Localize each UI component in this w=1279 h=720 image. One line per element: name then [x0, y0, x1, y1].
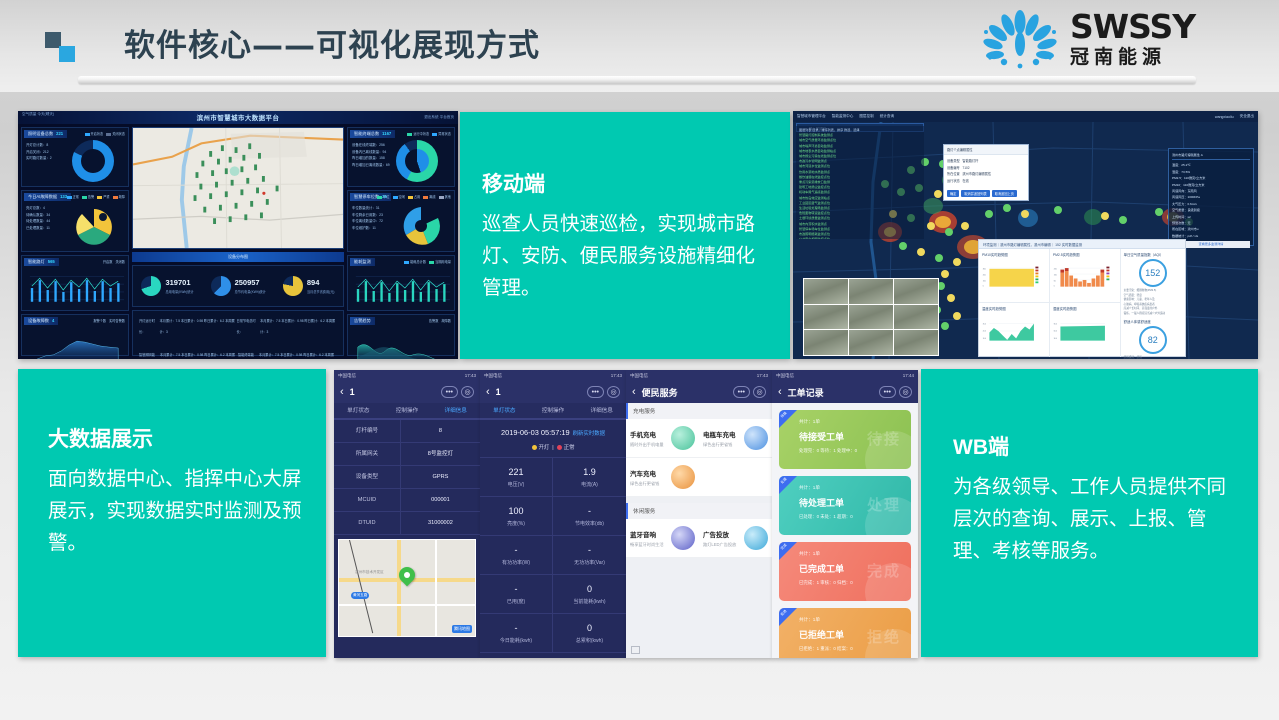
refresh-link[interactable]: 刷新实时数据: [573, 431, 605, 437]
card-ghost-text: 待接: [867, 428, 901, 449]
gis-monitoring-screenshot: 智慧城市管理平台 智能监测中心 图层控制 统计查询 wangxiaoliu 安全…: [793, 111, 1258, 359]
chart-pm25: 250150 500: [1053, 259, 1117, 295]
crowd-description: 舒适级别：舒适 感受描述：人体感觉比较舒适 建议事项：适合户外活动出行: [1124, 356, 1182, 359]
tab-light-status[interactable]: 单灯状态: [334, 403, 383, 418]
phone-navbar: ‹ 便民服务 ••• ◎: [626, 381, 772, 403]
chart-title-humidity: 湿度实时趋势图: [1053, 306, 1117, 311]
card-count: 共计：1单: [799, 485, 820, 491]
table-row: 设备类型 GPRS: [334, 466, 480, 489]
dash-card-smart-lamp: 智能路灯565 开启数 关闭数: [21, 255, 129, 311]
dashboard-actions[interactable]: 退出系统 平台首页: [424, 115, 454, 120]
card-caption: 智能路灯565: [24, 258, 59, 266]
metric-cell: 221电压(V): [480, 458, 553, 497]
realtime-metrics-grid: 221电压(V) 1.9电流(A) 100亮度(%) -节电效率(db) -有功…: [480, 458, 626, 653]
card-legend: 运行中状态 异常状态: [407, 131, 451, 136]
camera-tile[interactable]: [849, 330, 893, 355]
light-detail-table: 灯杆编号 8 所属网关 8号监控灯 设备类型 GPRS MCUID 000001…: [334, 419, 480, 535]
table-row: DTUID 31000002: [334, 512, 480, 535]
svg-text:10.0: 10.0: [983, 338, 986, 340]
area-chart-alarm: [348, 329, 454, 359]
table-row: MCUID 000001: [334, 489, 480, 512]
clock-label: 17:43: [611, 373, 622, 378]
aqi-title: 单日空气质量指数（AQI）: [1124, 252, 1182, 257]
card-legend: 正常 告警 严重 故障: [67, 194, 126, 199]
dash-card-fault-today: 今日AI故障数据133 正常 告警 严重 故障 亮灯总数：4 待确认数量：34 …: [21, 190, 129, 252]
metric-cell: -有功功率(W): [480, 536, 553, 575]
svg-text:300: 300: [983, 269, 986, 271]
svg-text:90.0: 90.0: [1054, 323, 1057, 325]
card-caption: 照明设备总数221: [24, 130, 67, 138]
back-icon[interactable]: ‹: [340, 386, 344, 398]
donut-chart-terminals: [396, 140, 438, 182]
phone-location-map[interactable]: 滨州市技术开发区 黄河五路 腾讯地图: [338, 539, 476, 637]
dash-card-terminal-total: 智能终端总数1167 运行中状态 异常状态 设备在线终端数：256 设备内已离线…: [347, 127, 455, 187]
dashboard-city-map[interactable]: [132, 127, 344, 249]
svg-text:0: 0: [983, 286, 984, 288]
pie-chart-parking: [398, 205, 444, 247]
card-name: 已拒绝工单: [799, 628, 844, 641]
svg-text:60.0: 60.0: [1054, 331, 1057, 333]
dash-card-energy: 能耗监测 能耗总计数 当期用电量: [347, 255, 455, 311]
camera-tile[interactable]: [804, 330, 848, 355]
close-icon[interactable]: ◎: [607, 386, 620, 398]
card-caption: 能耗监测: [350, 258, 375, 266]
card-name: 待接受工单: [799, 430, 844, 443]
service-section-leisure: 休闲服务 蓝牙音响 畅享蓝牙时尚生活 广告投放 路灯LED广告投放: [626, 503, 772, 558]
chart-title-pm10: PM10实时趋势图: [982, 252, 1046, 257]
chart-pm10: 3002001000: [982, 259, 1046, 295]
kpi-item: 319701 总用电量(KWh)统计: [141, 276, 193, 296]
panel-bigdata-heading: 大数据展示: [48, 423, 310, 453]
area-chart-device-fault: [22, 329, 128, 359]
clock-label: 17:44: [903, 373, 914, 378]
car-charge-icon: [671, 465, 695, 489]
menu-layer-control[interactable]: 图层控制: [859, 114, 873, 119]
crowd-title: 舒适人体感舒适度: [1124, 319, 1182, 324]
popup-confirm-button[interactable]: 确定: [947, 190, 959, 197]
more-icon[interactable]: •••: [441, 386, 458, 398]
popup-cancel-back-button[interactable]: 取消返回上页: [992, 190, 1017, 197]
service-item[interactable]: 电瓶车充电 绿色出行更省钱: [699, 419, 772, 458]
row-value: 000001: [400, 489, 480, 511]
close-icon[interactable]: ◎: [899, 386, 912, 398]
card-legend: 报警个数 实时告警数: [93, 318, 125, 323]
crowd-value: 82: [1139, 326, 1167, 354]
bar-chart-energy: [348, 270, 454, 310]
phone-charge-icon: [671, 426, 695, 450]
chart-column-mid: PM2.5实时趋势图: [1050, 249, 1121, 359]
phone-tabbar[interactable]: 单灯状态 控制操作 详细信息: [480, 403, 626, 419]
card-name: 已完成工单: [799, 562, 844, 575]
carrier-label: 中国电信: [338, 373, 356, 379]
svg-text:35.0: 35.0: [983, 323, 986, 325]
panel-web-client: WB端 为各级领导、工作人员提供不同层次的查询、展示、上报、管理、考核等服务。: [921, 369, 1258, 657]
logo-text-en: SWSSY: [1070, 10, 1195, 44]
metric-cell: -无功功率(Var): [553, 536, 626, 575]
phone-screenshot-realtime-data: 中国电信 17:43 ‹ 1 ••• ◎ 单灯状态 控制操作 详细信息 2019…: [480, 370, 626, 658]
dash-card-parking: 智慧停车位数36 车位 空闲 占用 离线 其他 车位数量统计：31 车位剩余已用…: [347, 190, 455, 252]
panel-mobile-heading: 移动端: [482, 168, 774, 198]
card-meta: 已拒绝：1 重派：0 结案：0: [799, 646, 853, 652]
work-order-card-pending-handle[interactable]: 处理 处理 共计：1单 待处理工单 已处理：0 未处：1 超期：0: [779, 476, 911, 535]
clock-label: 17:43: [465, 373, 476, 378]
chart-humidity: 90.060.030.0: [1053, 313, 1117, 349]
card-legend: 开启数 关闭数: [103, 259, 125, 264]
panel-wb-body: 为各级领导、工作人员提供不同层次的查询、展示、上报、管理、考核等服务。: [953, 471, 1243, 567]
company-logo: SWSSY 冠南能源: [974, 8, 1224, 74]
row-key: DTUID: [334, 512, 400, 534]
map-feature-popup[interactable]: 路灯个点编辑属性 设备类型 智能路灯杆 设备编号 7102 所在位置 滨州市路灯…: [943, 144, 1029, 201]
card-legend: 能耗总计数 当期用电量: [404, 259, 451, 264]
card-meta: 处理完：0 等待：1 处理中：0: [799, 448, 857, 454]
phone-nav-title: 便民服务: [642, 386, 733, 399]
popup-body: 设备类型 智能路灯杆 设备编号 7102 所在位置 滨州市路灯编辑属性 运行状态…: [944, 155, 1028, 187]
svg-text:20.0: 20.0: [983, 331, 986, 333]
menu-monitor-center[interactable]: 智能监测中心: [832, 114, 854, 119]
realtime-header: 2019-06-03 05:57:19刷新实时数据 开灯 | 正常: [480, 419, 626, 458]
detail-panel-title: 滨州市路灯编辑属性 A: [1172, 152, 1250, 160]
card-legend: 车位 空闲 占用 离线 其他: [377, 194, 451, 199]
card-meta: 已处理：0 未处：1 超期：0: [799, 514, 853, 520]
page-title: 软件核心——可视化展现方式: [124, 20, 540, 65]
svg-text:150: 150: [1054, 275, 1057, 277]
row-key: 灯杆编号: [334, 420, 400, 442]
panel-bigdata-display: 大数据展示 面向数据中心、指挥中心大屏展示，实现数据实时监测及预警。: [18, 369, 326, 657]
clock-label: 17:43: [757, 373, 768, 378]
camera-tile[interactable]: [804, 279, 848, 304]
slide-header: 软件核心——可视化展现方式: [0, 0, 1279, 92]
back-icon[interactable]: ‹: [486, 386, 490, 398]
card-caption: 今日AI故障数据133: [24, 193, 71, 201]
more-icon[interactable]: •••: [587, 386, 604, 398]
card-metrics: 设备在线终端数：256 设备内已离线数量：94 昨日增加的数量：158 昨日增加…: [352, 142, 390, 168]
dashboard-weather-meta: 空气质量 今天(晴天): [22, 112, 54, 117]
service-item[interactable]: 广告投放 路灯LED广告投放: [699, 519, 772, 558]
back-icon[interactable]: ‹: [778, 386, 782, 398]
card-legend: 告警数 故障数: [429, 318, 451, 323]
phone-nav-title: 1: [496, 387, 587, 397]
chart-column-right: 单日空气质量指数（AQI） 152 主要污染：细颗粒物(PM2.5) 空气质量：…: [1121, 249, 1185, 359]
phone-screenshot-work-orders: 中国电信 17:44 ‹ 工单记录 ••• ◎ 待接 待接 共计：1单 待接受工…: [772, 370, 918, 658]
aqi-value: 152: [1139, 259, 1167, 287]
chart-column-left: PM10实时趋势图 3002001000: [979, 249, 1050, 359]
metric-cell: -节电效率(db): [553, 497, 626, 536]
user-account[interactable]: wangxiaoliu: [1215, 115, 1234, 119]
svg-text:50: 50: [1054, 280, 1056, 282]
dash-card-device-fault: 设备故障数4 报警个数 实时告警数: [21, 314, 129, 356]
layer-tree-list[interactable]: 图层列表 目录，排序列表，排序 筛选，选择 智慧路灯控制系统监测点 城市空气质量…: [796, 126, 924, 239]
metric-cell: 0总累积(kwh): [553, 614, 626, 653]
dashboard-footer-stats: 开灯运行时长： 本月累计：7.5 本日累计：0.98 昨日累计：6.2 本周累计…: [132, 310, 344, 356]
title-decoration-squares: [45, 32, 77, 62]
popup-buttons[interactable]: 确定 取消并返回列表 取消返回上页: [944, 187, 1028, 200]
carrier-label: 中国电信: [484, 373, 502, 379]
advertising-icon: [744, 526, 768, 550]
home-indicator-icon: [631, 646, 640, 654]
popup-title: 路灯个点编辑属性: [944, 145, 1028, 155]
phone-statusbar: 中国电信 17:44: [772, 370, 918, 381]
phone-tabbar[interactable]: 单灯状态 控制操作 详细信息: [334, 403, 480, 419]
miniprogram-capsule[interactable]: ••• ◎: [733, 386, 766, 398]
pie-chart-fault: [72, 207, 116, 247]
chart-temperature: 35.020.010.0: [982, 313, 1046, 349]
svg-text:100: 100: [983, 280, 986, 282]
table-row: 灯杆编号 8: [334, 420, 480, 443]
svg-text:0: 0: [1054, 286, 1055, 288]
realtime-flags: 开灯 | 正常: [480, 443, 626, 451]
miniprogram-capsule[interactable]: ••• ◎: [879, 386, 912, 398]
miniprogram-capsule[interactable]: ••• ◎: [587, 386, 620, 398]
phone-nav-title: 1: [350, 387, 441, 397]
map-label-b: 黄河五路: [351, 592, 369, 599]
back-icon[interactable]: ‹: [632, 386, 636, 398]
tab-detail-info[interactable]: 详细信息: [577, 403, 626, 418]
dash-card-lights-total: 照明设备总数221 开启状态 关闭状态 开灯总计数：8 开启关闭：212 实时路…: [21, 127, 129, 187]
dashboard-center-column: 设备分布图 319701 总用电量(KWh)统计 250957 总节约电量(KW…: [132, 127, 344, 356]
kpi-item: 250957 总节约电量(KWh)统计: [211, 276, 266, 296]
metric-cell: -今日能耗(kwh): [480, 614, 553, 653]
service-item-empty: [699, 458, 772, 497]
metric-cell: 1.9电流(A): [553, 458, 626, 497]
card-metrics: 亮灯总数：4 待确认数量：34 待处理数量：44 已处理数量：11: [26, 205, 50, 231]
panel-mobile-client: 移动端 巡查人员快速巡检，实现城市路灯、安防、便民服务设施精细化管理。: [460, 112, 790, 359]
dash-card-alarm-trend: 告警趋势 告警数 故障数: [347, 314, 455, 356]
row-key: MCUID: [334, 489, 400, 511]
logo-text-cn: 冠南能源: [1070, 46, 1195, 70]
phone-navbar: ‹ 工单记录 ••• ◎: [772, 381, 918, 403]
more-icon[interactable]: •••: [733, 386, 750, 398]
carrier-label: 中国电信: [630, 373, 648, 379]
card-meta: 已完成：1 审核：0 归档：0: [799, 580, 853, 586]
dashboard-right-column: 智能终端总数1167 运行中状态 异常状态 设备在线终端数：256 设备内已离线…: [347, 127, 455, 356]
row-value: 8: [400, 420, 480, 442]
tab-control-ops[interactable]: 控制操作: [383, 403, 432, 418]
map-provider-badge: 腾讯地图: [452, 625, 472, 633]
phone-screenshot-public-services: 中国电信 17:43 ‹ 便民服务 ••• ◎ 充电服务 手机充电 随时外出手机…: [626, 370, 772, 658]
dashboard-titlebar: 空气质量 今天(晴天) 滨州市智慧城市大数据平台 退出系统 平台首页: [18, 111, 458, 124]
service-item[interactable]: 汽车充电 绿色出行更省钱: [626, 458, 699, 497]
dashboard-title: 滨州市智慧城市大数据平台: [197, 113, 280, 122]
tab-detail-info[interactable]: 详细信息: [431, 403, 480, 418]
gis-top-menu[interactable]: 智慧城市管理平台 智能监测中心 图层控制 统计查询 wangxiaoliu 安全…: [793, 111, 1258, 122]
miniprogram-capsule[interactable]: ••• ◎: [441, 386, 474, 398]
logout-button[interactable]: 安全退出: [1240, 114, 1254, 119]
card-metrics: 车位数量统计：31 车位剩余已用数：23 车位离线数量中：72 车位维护数：11: [352, 205, 383, 231]
phone-navbar: ‹ 1 ••• ◎: [334, 381, 480, 403]
card-metrics: 开灯总计数：8 开启关闭：212 实时路灯数量：2: [26, 142, 52, 162]
layer-tree-item[interactable]: 公共安全视频监控点位: [799, 237, 921, 239]
svg-text:250: 250: [1054, 269, 1057, 271]
menu-stat-query[interactable]: 统计查询: [880, 114, 894, 119]
card-ghost-text: 处理: [867, 494, 901, 515]
dashboard-kpi-row: 319701 总用电量(KWh)统计 250957 总节约电量(KWh)统计 8…: [132, 265, 344, 307]
row-value: 8号监控灯: [400, 443, 480, 465]
metric-cell: -已用(度): [480, 575, 553, 614]
work-order-card-completed[interactable]: 完成 完成 共计：1单 已完成工单 已完成：1 审核：0 归档：0: [779, 542, 911, 601]
row-key: 所属网关: [334, 443, 400, 465]
chart-panel-title: 环境监测｜滨州市路灯编辑属性，滨州市编辑｜ 152 实时数据监测: [979, 240, 1185, 249]
more-icon[interactable]: •••: [879, 386, 896, 398]
phone-statusbar: 中国电信 17:43: [626, 370, 772, 381]
card-count: 共计：1单: [799, 617, 820, 623]
camera-tile[interactable]: [849, 279, 893, 304]
dashboard-left-column: 照明设备总数221 开启状态 关闭状态 开灯总计数：8 开启关闭：212 实时路…: [21, 127, 129, 356]
kpi-item: 894 当月总节省费用(元): [283, 276, 335, 296]
section-title: 充电服务: [626, 403, 772, 419]
card-ghost-text: 拒绝: [867, 626, 901, 647]
bluetooth-speaker-icon: [671, 526, 695, 550]
section-title: 休闲服务: [626, 503, 772, 519]
phone-navbar: ‹ 1 ••• ◎: [480, 381, 626, 403]
card-caption: 设备故障数4: [24, 317, 58, 325]
feature-detail-panel[interactable]: 滨州市路灯编辑属性 A 温度：25.2℃ 湿度：73.5% PM2.5：110微…: [1168, 148, 1254, 246]
chart-title-temp: 温度实时趋势图: [982, 306, 1046, 311]
phone-nav-title: 工单记录: [788, 386, 879, 399]
panel-bigdata-body: 面向数据中心、指挥中心大屏展示，实现数据实时监测及预警。: [48, 463, 310, 559]
gis-map-canvas[interactable]: 输入关键字 图层列表 目录，排序列表，排序 筛选，选择 智慧路灯控制系统监测点 …: [793, 122, 1258, 359]
row-key: 设备类型: [334, 466, 400, 488]
panel-mobile-body: 巡查人员快速巡检，实现城市路灯、安防、便民服务设施精细化管理。: [482, 208, 774, 304]
aqi-description: 主要污染：细颗粒物(PM2.5) 空气质量：轻度 健康影响：儿童、老年人及 心脏…: [1124, 289, 1182, 317]
row-value: GPRS: [400, 466, 480, 488]
carrier-label: 中国电信: [776, 373, 794, 379]
realtime-timestamp: 2019-06-03 05:57:19刷新实时数据: [480, 428, 626, 437]
header-divider: [78, 76, 1196, 84]
metric-cell: 0当前能耗(kwh): [553, 575, 626, 614]
bigdata-dashboard-screenshot: 空气质量 今天(晴天) 滨州市智慧城市大数据平台 退出系统 平台首页 照明设备总…: [18, 111, 458, 359]
card-caption: 智能终端总数1167: [350, 130, 395, 138]
work-order-card-pending-accept[interactable]: 待接 待接 共计：1单 待接受工单 处理完：0 等待：1 处理中：0: [779, 410, 911, 469]
card-caption: 告警趋势: [350, 317, 375, 325]
tab-control-ops[interactable]: 控制操作: [529, 403, 578, 418]
card-count: 共计：1单: [799, 551, 820, 557]
phone-screenshot-light-detail: 中国电信 17:43 ‹ 1 ••• ◎ 单灯状态 控制操作 详细信息 灯杆编号…: [334, 370, 480, 658]
chart-title-pm25: PM2.5实时趋势图: [1053, 252, 1117, 257]
camera-grid[interactable]: [803, 278, 939, 356]
card-ghost-text: 完成: [867, 560, 901, 581]
popup-cancel-list-button[interactable]: 取消并返回列表: [961, 190, 989, 197]
card-legend: 开启状态 关闭状态: [85, 131, 126, 136]
tab-light-status[interactable]: 单灯状态: [480, 403, 529, 418]
service-item[interactable]: 蓝牙音响 畅享蓝牙时尚生活: [626, 519, 699, 558]
camera-tile[interactable]: [804, 305, 848, 330]
menu-platform[interactable]: 智慧城市管理平台: [797, 114, 826, 119]
service-item[interactable]: 手机充电 随时外出手机电量: [626, 419, 699, 458]
ebike-charge-icon: [744, 426, 768, 450]
donut-chart-lights: [72, 140, 114, 182]
svg-text:30.0: 30.0: [1054, 338, 1057, 340]
row-value: 31000002: [400, 512, 480, 534]
dashboard-map-bar: 设备分布图: [132, 252, 344, 262]
card-name: 待处理工单: [799, 496, 844, 509]
panel-wb-heading: WB端: [953, 431, 1243, 461]
camera-tile[interactable]: [894, 279, 938, 304]
logo-petal-icon: [974, 10, 1066, 72]
bar-chart-smart-lamp: [22, 270, 128, 310]
camera-tile[interactable]: [894, 330, 938, 355]
map-label-a: 滨州市技术开发区: [355, 570, 384, 575]
service-section-charging: 充电服务 手机充电 随时外出手机电量 电瓶车充电 绿色出行更省钱 汽车充电 绿色…: [626, 403, 772, 497]
card-count: 共计：1单: [799, 419, 820, 425]
phone-statusbar: 中国电信 17:43: [480, 370, 626, 381]
metric-cell: 100亮度(%): [480, 497, 553, 536]
phone-statusbar: 中国电信 17:43: [334, 370, 480, 381]
camera-tile[interactable]: [849, 305, 893, 330]
svg-text:200: 200: [983, 275, 986, 277]
environment-chart-panel: 环境监测｜滨州市路灯编辑属性，滨州市编辑｜ 152 实时数据监测 PM10实时趋…: [978, 239, 1186, 357]
close-icon[interactable]: ◎: [753, 386, 766, 398]
close-icon[interactable]: ◎: [461, 386, 474, 398]
table-row: 所属网关 8号监控灯: [334, 443, 480, 466]
work-order-card-rejected[interactable]: 拒绝 拒绝 共计：1单 已拒绝工单 已拒绝：1 重派：0 结案：0: [779, 608, 911, 658]
camera-tile[interactable]: [894, 305, 938, 330]
